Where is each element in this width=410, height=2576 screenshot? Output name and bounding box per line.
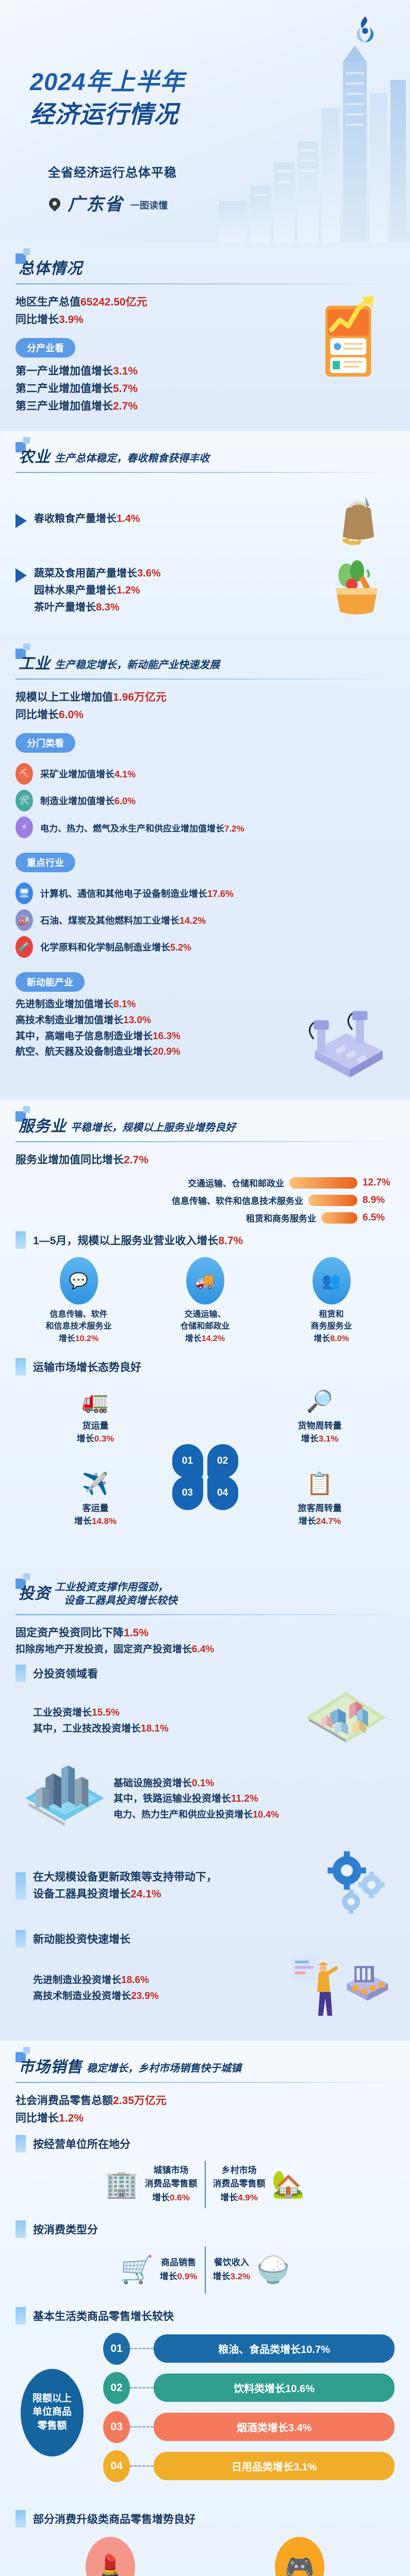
basic-goods-list: 限额以上 单位商品 零售额 01 粮油、食品类增长10.7% 02 饮料类增长1… <box>15 2333 395 2503</box>
key-industry-3-value: 5.2% <box>170 942 191 953</box>
industry-3-value: 2.7% <box>113 400 138 412</box>
basic-goods-row-1: 01 粮油、食品类增长10.7% <box>103 2333 395 2365</box>
pill-new-energy: 新动能产业 <box>15 972 85 992</box>
agri-item-3-value: 1.2% <box>117 585 140 596</box>
market-type-goods-name: 商品销售 <box>160 2256 198 2269</box>
bar-label-1: 交通运输、仓储和邮政业 <box>188 1176 284 1189</box>
worker-dashboard-icon <box>286 1952 395 2025</box>
transport-cell-3-growth-label: 增长 <box>74 1516 92 1526</box>
new-energy-invest-title: 新动能投资快速增长 <box>15 1930 395 1947</box>
industry-1-value: 3.1% <box>113 365 138 377</box>
investment-subtitle: 分投资领域看 <box>15 1665 395 1682</box>
bar-row-3: 租赁和商务服务业 6.5% <box>15 1211 395 1224</box>
transport-petal-numbers: 01 02 03 04 <box>172 1444 238 1510</box>
column-divider <box>205 2246 206 2294</box>
inv-field-a-1-label: 工业投资增长 <box>33 1707 92 1718</box>
inv-field-b-1-label: 基础设施投资增长 <box>113 1778 192 1789</box>
isometric-city-icon <box>297 1686 395 1756</box>
services-subtitle-2: 1—5月，规模以上服务业营业收入增长8.7% <box>15 1231 395 1249</box>
dashed-connector <box>130 2465 154 2467</box>
investment-desc-line-1: 工业投资支撑作用强劲， <box>55 1581 177 1594</box>
industry-category-2-value: 6.0% <box>114 796 136 806</box>
bar-label-3: 租赁和商务服务业 <box>246 1211 316 1224</box>
bar-value-1: 12.7% <box>363 1177 395 1189</box>
basic-goods-no-4: 04 <box>103 2450 130 2482</box>
services-value-line: 服务业增加值同比增长2.7% <box>15 1151 395 1169</box>
key-industry-1: 🖥 计算机、通信和其他电子设备制造业增长17.6% <box>15 883 395 904</box>
section-investment: 投资 工业投资支撑作用强劲， 设备工器具投资增长较快 固定资产投资同比下降1.5… <box>0 1567 410 2041</box>
new-energy-1-value: 8.1% <box>113 999 136 1010</box>
market-sub-1-text: 按经营单位所在地分 <box>33 2136 130 2151</box>
city-skyline-illustration <box>188 31 410 242</box>
section-investment-desc: 工业投资支撑作用强劲， 设备工器具投资增长较快 <box>55 1581 177 1609</box>
section-divider <box>15 283 395 284</box>
industry-2-label: 第二产业增加值增长 <box>15 383 113 395</box>
agri-item-4-label: 茶叶产量增长 <box>34 602 96 613</box>
upgrade-cell-2: 🎮 体育、娱乐用品类增长10.0% <box>212 2537 387 2576</box>
key-industry-1-value: 17.6% <box>207 889 234 899</box>
industry-category-1-label: 采矿业增加值增长 <box>40 769 114 779</box>
gdp-value: 65242.50亿元 <box>80 296 147 308</box>
retail-growth-label: 同比增长 <box>15 2112 59 2124</box>
isometric-skyscraper-icon <box>15 1761 113 1837</box>
market-location-urban-growth: 0.6% <box>170 2193 190 2202</box>
section-services-head: 服务业 平稳增长，规模以上服务业增势良好 <box>15 1113 395 1136</box>
market-sub-2-text: 按消费类型分 <box>33 2222 98 2237</box>
services-cell-1-growth: 增长10.2% <box>22 1333 136 1345</box>
fai-label: 固定资产投资同比下降 <box>15 1627 124 1639</box>
market-location-rural-name: 乡村市场 消费品零售额 <box>213 2164 266 2191</box>
market-type-catering-growth-label: 增长 <box>213 2272 231 2281</box>
new-energy-3: 其中，高端电子信息制造业增长16.3% <box>15 1029 291 1045</box>
inv-newenergy-1: 先进制造业投资增长18.6% <box>33 1973 286 1989</box>
basic-goods-label-1: 粮油、食品类增长10.7% <box>154 2334 395 2363</box>
upgrade-goods: 💄 化妆品类增长10.8% 🎮 体育、娱乐用品类增长10.0% <box>15 2537 395 2576</box>
fai-value: 1.5% <box>124 1627 149 1639</box>
retail-growth-value: 1.2% <box>59 2112 84 2124</box>
transport-cell-1: 🚛 货运量 增长0.3% <box>31 1385 160 1446</box>
agri-item-1: 春收粮食产量增长1.4% <box>34 511 140 528</box>
key-industry-3: 🧪 化学原料和化学制品制造业增长5.2% <box>15 936 395 958</box>
agri-item-3-label: 园林水果产量增长 <box>34 585 117 596</box>
title-line-1: 2024年上半年 <box>30 66 185 98</box>
market-type-goods-growth: 0.9% <box>177 2272 198 2281</box>
section-market-title: 市场销售 <box>19 2054 83 2077</box>
province-name: 广东省 <box>68 196 123 213</box>
market-type-catering-growth: 3.2% <box>231 2272 251 2281</box>
agri-row-2: 蔬菜及食用菌产量增长3.6% 园林水果产量增长1.2% 茶叶产量增长8.3% <box>15 565 317 616</box>
inv-field-b-2: 其中，铁路运输业投资增长11.2% <box>113 1791 395 1807</box>
industry-category-1-value: 4.1% <box>114 769 136 779</box>
section-services-title: 服务业 <box>19 1113 67 1136</box>
market-sub-3: 基本生活类商品零售增长较快 <box>15 2307 395 2325</box>
inv-newenergy-2-label: 高技术制造业投资增长 <box>33 1991 131 2002</box>
read-label: 一图读懂 <box>130 198 168 213</box>
market-sub-2: 按消费类型分 <box>15 2221 395 2238</box>
agri-item-2: 蔬菜及食用菌产量增长3.6% <box>34 565 161 582</box>
market-sub-4: 部分消费升级类商品零售增势良好 <box>15 2510 395 2528</box>
game-controller-icon: 🎮 <box>275 2537 324 2576</box>
retail-total-line: 社会消费品零售总额2.35万亿元 <box>15 2092 395 2110</box>
grain-sack-icon <box>330 482 387 549</box>
dashed-connector <box>130 2348 154 2349</box>
lightning-bolt-icon: ⚡ <box>15 817 33 838</box>
inv-newenergy-1-value: 18.6% <box>121 1975 149 1986</box>
key-industry-2-label: 石油、煤炭及其他燃料加工业增长 <box>40 916 179 926</box>
services-subtitle-2-label: 1—5月，规模以上服务业营业收入增长 <box>33 1235 218 1247</box>
transport-cell-4-name: 旅客周转量 <box>255 1502 384 1515</box>
transport-cell-4-growth-label: 增长 <box>299 1516 316 1526</box>
retail-total-label: 社会消费品零售总额 <box>15 2095 113 2107</box>
section-agriculture-desc: 生产总体稳定，春收粮食获得丰收 <box>55 452 209 467</box>
industry-1-label: 第一产业增加值增长 <box>15 365 113 377</box>
refinery-icon: 🏭 <box>15 909 33 931</box>
new-energy-1: 先进制造业增加值增长8.1% <box>15 997 291 1013</box>
section-industry-desc: 生产稳定增长，新动能产业快速发展 <box>55 658 220 673</box>
gdp-growth-value: 3.9% <box>59 314 84 326</box>
pill-by-industry: 分产业看 <box>15 338 75 358</box>
key-industry-1-label: 计算机、通信和其他电子设备制造业增长 <box>40 889 207 899</box>
inv-field-b-3-label: 电力、热力生产和供应业投资增长 <box>113 1809 253 1820</box>
hero-subtitle: 全省经济运行总体平稳 <box>48 162 177 180</box>
industry-category-2-label: 制造业增加值增长 <box>40 796 114 806</box>
column-divider <box>205 2161 206 2208</box>
section-market-head: 市场销售 稳定增长，乡村市场销售快于城镇 <box>15 2054 395 2077</box>
industry-2-value: 5.7% <box>113 383 138 395</box>
transport-cell-1-growth: 0.3% <box>94 1434 114 1444</box>
location-pin-icon <box>49 198 60 213</box>
market-location-rural: 乡村市场 消费品零售额 增长4.9% 🏡 <box>206 2164 313 2205</box>
hero-location: 广东省 一图读懂 <box>49 196 168 213</box>
office-tower-icon: 🏢 <box>105 2171 139 2198</box>
dashed-connector <box>130 2387 154 2388</box>
monitor-icon: 🖥 <box>15 883 33 904</box>
bar-row-1: 交通运输、仓储和邮政业 12.7% <box>15 1176 395 1189</box>
chip-marker-icon <box>15 1665 26 1682</box>
agri-item-1-value: 1.4% <box>117 513 140 524</box>
vegetable-basket-icon <box>324 555 388 619</box>
chat-bubble-icon: 💬 <box>60 1257 98 1304</box>
section-divider <box>15 1614 395 1615</box>
fai-ex-value: 6.4% <box>192 1644 214 1655</box>
transport-quadrant: 🚛 货运量 增长0.3% 🔎 货物周转量 增长3.1% ✈️ 客运量 增长14.… <box>15 1385 395 1550</box>
new-energy-3-label: 其中，高端电子信息制造业增长 <box>15 1031 153 1042</box>
market-by-type: 🛒 商品销售 增长0.9% 餐饮收入 增长3.2% 🍚 <box>15 2246 395 2294</box>
agri-row-1: 春收粮食产量增长1.4% <box>15 511 322 528</box>
bar-row-2: 信息传输、软件和信息技术服务业 8.9% <box>15 1194 395 1207</box>
industry-value-line: 规模以上工业增加值1.96万亿元 <box>15 689 395 706</box>
section-overall: 总体情况 地区生产总值65242.50亿元 同比增长3.9% 分产业看 第一产业… <box>0 242 410 431</box>
section-services-desc: 平稳增长，规模以上服务业增势良好 <box>71 1121 236 1136</box>
section-investment-title: 投资 <box>19 1581 51 1603</box>
fai-line: 固定资产投资同比下降1.5% <box>15 1624 395 1642</box>
section-market-desc: 稳定增长，乡村市场销售快于城镇 <box>87 2062 241 2077</box>
investment-subtitle-text: 分投资领域看 <box>33 1666 98 1681</box>
transport-cell-2-growth-label: 增长 <box>301 1434 319 1444</box>
basic-goods-no-3: 03 <box>103 2411 130 2443</box>
section-industry: 工业 生产稳定增长，新动能产业快速发展 规模以上工业增加值1.96万亿元 同比增… <box>0 637 410 1100</box>
excavator-icon: ⛏ <box>15 763 33 785</box>
section-services: 服务业 平稳增长，规模以上服务业增势良好 服务业增加值同比增长2.7% 交通运输… <box>0 1100 410 1567</box>
market-type-catering-name: 餐饮收入 <box>213 2256 251 2269</box>
hero-header: 2024年上半年 经济运行情况 全省经济运行总体平稳 广东省 一图读懂 <box>0 0 410 242</box>
market-type-goods: 🛒 商品销售 增长0.9% <box>113 2256 205 2283</box>
industry-category-3: ⚡ 电力、热力、燃气及水生产和供应业增加值增长7.2% <box>15 817 395 838</box>
cargo-turnover-icon: 🔎 <box>255 1385 384 1417</box>
new-energy-2: 高技术制造业增加值增长13.0% <box>15 1013 291 1029</box>
industry-category-3-value: 7.2% <box>224 824 244 834</box>
industry-1: 第一产业增加值增长3.1% <box>15 363 307 380</box>
section-industry-title: 工业 <box>19 651 51 673</box>
gdp-growth-line: 同比增长3.9% <box>15 311 307 329</box>
petal-02: 02 <box>207 1444 238 1478</box>
statistics-bureau-logo-icon <box>350 14 380 44</box>
market-location-urban: 🏢 城镇市场 消费品零售额 增长0.6% <box>98 2164 205 2205</box>
services-three-cells: 💬 信息传输、软件 和信息技术服务业 增长10.2% 🚚 交通运输、 仓储和邮政… <box>15 1257 395 1345</box>
bar-label-2: 信息传输、软件和信息技术服务业 <box>172 1194 303 1207</box>
infographic-page: 2024年上半年 经济运行情况 全省经济运行总体平稳 广东省 一图读懂 总体情况… <box>0 0 410 2576</box>
bar-track-1 <box>289 1177 357 1189</box>
industry-3-label: 第三产业增加值增长 <box>15 400 113 412</box>
bar-value-3: 6.5% <box>363 1212 395 1224</box>
gdp-growth-label: 同比增长 <box>15 314 59 326</box>
rural-house-icon: 🏡 <box>272 2171 305 2198</box>
page-title: 2024年上半年 经济运行情况 <box>30 66 185 131</box>
market-location-urban-name: 城镇市场 消费品零售额 <box>145 2164 198 2191</box>
delivery-truck-icon: 🚚 <box>186 1257 224 1304</box>
new-energy-4: 航空、航天器及设备制造业增长20.9% <box>15 1044 291 1060</box>
beaker-icon: 🧪 <box>15 936 33 958</box>
equipment-title-line-1: 在大规模设备更新政策等支持带动下， <box>33 1869 217 1886</box>
section-overall-head: 总体情况 <box>15 256 395 278</box>
gdp-label: 地区生产总值 <box>15 296 80 308</box>
basic-goods-row-3: 03 烟酒类增长3.4% <box>103 2411 395 2443</box>
services-cell-1-name: 信息传输、软件 和信息技术服务业 <box>22 1309 136 1332</box>
clipboard-icon: 📋 <box>255 1467 384 1500</box>
transport-cell-2-name: 货物周转量 <box>255 1419 384 1433</box>
agri-item-3: 园林水果产量增长1.2% <box>34 582 161 599</box>
key-industry-3-label: 化学原料和化学制品制造业增长 <box>40 942 170 953</box>
arrow-marker-icon <box>15 514 27 528</box>
basic-goods-label-4: 日用品类增长3.1% <box>154 2452 395 2480</box>
robotic-assembly-line-icon <box>294 997 392 1084</box>
market-location-rural-growth-label: 增长 <box>220 2193 238 2202</box>
new-energy-4-label: 航空、航天器及设备制造业增长 <box>15 1046 153 1057</box>
inv-newenergy-1-label: 先进制造业投资增长 <box>33 1975 121 1986</box>
services-cell-3-growth: 增长8.0% <box>274 1333 388 1345</box>
people-group-icon: 👥 <box>313 1257 351 1304</box>
agri-item-1-label: 春收粮食产量增长 <box>34 513 117 524</box>
shopping-cart-icon: 🛒 <box>120 2257 154 2283</box>
inv-field-b-3-value: 10.4% <box>253 1809 279 1820</box>
basic-goods-blob: 限额以上 单位商品 零售额 <box>21 2369 84 2456</box>
inv-field-a-1-value: 15.5% <box>92 1707 120 1718</box>
equipment-title: 在大规模设备更新政策等支持带动下， 设备工器具投资增长24.1% <box>15 1869 317 1903</box>
chip-marker-icon <box>15 2307 26 2325</box>
basic-goods-no-2: 02 <box>103 2372 130 2404</box>
gear-icon <box>317 1850 395 1919</box>
services-cell-3: 👥 租赁和 商务服务业 增长8.0% <box>274 1257 388 1345</box>
inv-field-b-1: 基础设施投资增长0.1% <box>113 1776 395 1792</box>
market-type-catering: 餐饮收入 增长3.2% 🍚 <box>206 2256 298 2283</box>
industry-value-label: 规模以上工业增加值 <box>15 691 113 703</box>
industry-growth-value: 6.0% <box>59 709 84 721</box>
agri-item-2-value: 3.6% <box>137 568 161 579</box>
fai-ex-line: 扣除房地产开发投资，固定资产投资增长6.4% <box>15 1642 395 1658</box>
agri-item-4-value: 8.3% <box>96 602 120 613</box>
inv-field-b-3: 电力、热力生产和供应业投资增长10.4% <box>113 1807 395 1822</box>
new-energy-2-label: 高技术制造业增加值增长 <box>15 1015 123 1026</box>
new-energy-4-value: 20.9% <box>153 1046 181 1057</box>
inv-field-a-2: 其中，工业技改投资增长18.1% <box>33 1721 297 1737</box>
inv-field-a-2-label: 其中，工业技改投资增长 <box>33 1723 141 1734</box>
section-divider <box>15 472 395 473</box>
services-cell-2: 🚚 交通运输、 仓储和邮政业 增长14.2% <box>148 1257 262 1345</box>
gdp-line: 地区生产总值65242.50亿元 <box>15 294 307 311</box>
upgrade-cell-1: 💄 化妆品类增长10.8% <box>23 2537 198 2576</box>
new-energy-1-label: 先进制造业增加值增长 <box>15 999 113 1010</box>
new-energy-3-value: 16.3% <box>153 1031 181 1042</box>
new-energy-invest-title-text: 新动能投资快速增长 <box>33 1931 130 1946</box>
new-energy-2-value: 13.0% <box>123 1015 151 1026</box>
basic-goods-row-4: 04 日用品类增长3.1% <box>103 2450 395 2482</box>
market-location-urban-growth-label: 增长 <box>152 2193 170 2202</box>
services-cell-1: 💬 信息传输、软件 和信息技术服务业 增长10.2% <box>22 1257 136 1345</box>
section-agriculture-title: 农业 <box>19 444 51 467</box>
market-sub-1: 按经营单位所在地分 <box>15 2135 395 2153</box>
section-overall-title: 总体情况 <box>19 256 83 278</box>
transport-cell-4-growth: 24.7% <box>316 1516 341 1526</box>
arrow-marker-icon <box>15 568 27 583</box>
chip-marker-icon <box>15 2221 26 2238</box>
market-sub-4-text: 部分消费升级类商品零售增势良好 <box>33 2511 195 2527</box>
pill-by-category: 分门类看 <box>15 733 75 753</box>
rice-bowl-icon: 🍚 <box>256 2257 290 2283</box>
services-value: 2.7% <box>124 1154 149 1166</box>
chip-marker-icon <box>15 1930 26 1947</box>
inv-newenergy-2: 高技术制造业投资增长23.9% <box>33 1989 286 2005</box>
chip-marker-icon <box>15 1231 26 1249</box>
bar-track-2 <box>308 1195 357 1206</box>
plane-train-icon: ✈️ <box>31 1467 160 1500</box>
services-cell-2-growth: 增长14.2% <box>148 1333 262 1345</box>
section-divider <box>15 2082 395 2083</box>
basic-goods-row-2: 02 饮料类增长10.6% <box>103 2372 395 2404</box>
bar-track-3 <box>321 1212 357 1224</box>
transport-cell-4: 📋 旅客周转量 增长24.7% <box>255 1467 384 1528</box>
industry-2: 第二产业增加值增长5.7% <box>15 380 307 398</box>
bar-value-2: 8.9% <box>363 1195 395 1206</box>
market-sub-3-text: 基本生活类商品零售增长较快 <box>33 2308 174 2324</box>
inv-field-a-2-value: 18.1% <box>141 1723 169 1734</box>
dashed-connector <box>130 2426 154 2428</box>
inv-field-a-1: 工业投资增长15.5% <box>33 1705 297 1721</box>
industry-category-1: ⛏ 采矿业增加值增长4.1% <box>15 763 395 785</box>
transport-cell-3-growth: 14.8% <box>92 1516 117 1526</box>
key-industry-2-value: 14.2% <box>179 916 206 926</box>
transport-title: 运输市场增长态势良好 <box>15 1358 395 1376</box>
services-subtitle-2-value: 8.7% <box>218 1235 243 1247</box>
inv-newenergy-2-value: 23.9% <box>131 1991 159 2002</box>
equipment-title-line-2-label: 设备工器具投资增长 <box>33 1888 130 1900</box>
transport-cell-3-name: 客运量 <box>31 1502 160 1515</box>
chip-marker-icon <box>15 1358 26 1376</box>
section-agriculture: 农业 生产总体稳定，春收粮食获得丰收 春收粮食产量增长1.4% <box>0 431 410 637</box>
transport-cell-3: ✈️ 客运量 增长14.8% <box>31 1467 160 1528</box>
market-by-location: 🏢 城镇市场 消费品零售额 增长0.6% 乡村市场 消费品零售额 增长4.9% … <box>15 2161 395 2208</box>
growth-chart-folder-icon <box>315 294 387 384</box>
services-bar-chart: 交通运输、仓储和邮政业 12.7% 信息传输、软件和信息技术服务业 8.9% 租… <box>15 1176 395 1224</box>
inv-field-b-2-label: 其中，铁路运输业投资增长 <box>113 1793 231 1804</box>
cosmetics-icon: 💄 <box>86 2537 135 2576</box>
pill-key-industries: 重点行业 <box>15 853 75 872</box>
investment-desc-line-2: 设备工器具投资增长较快 <box>55 1594 177 1607</box>
transport-cell-2-growth: 3.1% <box>319 1434 339 1444</box>
equipment-title-line-2-value: 24.1% <box>130 1888 161 1900</box>
retail-growth-line: 同比增长1.2% <box>15 2110 395 2127</box>
cargo-truck-icon: 🚛 <box>31 1385 160 1417</box>
transport-cell-1-growth-label: 增长 <box>77 1434 94 1444</box>
petal-01: 01 <box>172 1444 203 1478</box>
chip-marker-icon <box>15 1872 26 1900</box>
industry-category-3-label: 电力、热力、燃气及水生产和供应业增加值增长 <box>40 824 224 834</box>
section-divider <box>15 1141 395 1142</box>
basic-goods-label-3: 烟酒类增长3.4% <box>154 2413 395 2441</box>
transport-cell-1-name: 货运量 <box>31 1419 160 1433</box>
industry-category-2: 🛠 制造业增加值增长6.0% <box>15 790 395 811</box>
transport-title-text: 运输市场增长态势良好 <box>33 1359 141 1375</box>
section-divider <box>15 679 395 680</box>
market-type-goods-growth-label: 增长 <box>160 2272 177 2281</box>
petal-04: 04 <box>207 1476 238 1510</box>
retail-total-value: 2.35万亿元 <box>113 2095 167 2107</box>
industry-growth-line: 同比增长6.0% <box>15 706 395 724</box>
services-cell-2-name: 交通运输、 仓储和邮政业 <box>148 1309 262 1332</box>
industry-3: 第三产业增加值增长2.7% <box>15 398 307 415</box>
inv-field-b-1-value: 0.1% <box>192 1778 214 1789</box>
chip-marker-icon <box>15 2135 26 2153</box>
fai-ex-label: 扣除房地产开发投资，固定资产投资增长 <box>15 1644 192 1655</box>
basic-goods-label-2: 饮料类增长10.6% <box>154 2374 395 2402</box>
chip-marker-icon <box>15 2510 26 2528</box>
market-location-rural-growth: 4.9% <box>238 2193 258 2202</box>
section-investment-head: 投资 工业投资支撑作用强劲， 设备工器具投资增长较快 <box>15 1581 395 1609</box>
title-line-2: 经济运行情况 <box>30 98 185 131</box>
industry-growth-label: 同比增长 <box>15 709 59 721</box>
agri-item-4: 茶叶产量增长8.3% <box>34 599 161 616</box>
services-value-label: 服务业增加值同比增长 <box>15 1154 124 1166</box>
industry-value: 1.96万亿元 <box>113 691 167 703</box>
section-market: 市场销售 稳定增长，乡村市场销售快于城镇 社会消费品零售总额2.35万亿元 同比… <box>0 2041 410 2576</box>
inv-field-b-2-value: 11.2% <box>231 1793 258 1804</box>
section-industry-head: 工业 生产稳定增长，新动能产业快速发展 <box>15 651 395 673</box>
services-cell-3-name: 租赁和 商务服务业 <box>274 1309 388 1332</box>
petal-03: 03 <box>172 1476 203 1510</box>
section-agriculture-head: 农业 生产总体稳定，春收粮食获得丰收 <box>15 444 395 467</box>
agri-item-2-label: 蔬菜及食用菌产量增长 <box>34 568 137 579</box>
basic-goods-no-1: 01 <box>103 2333 130 2365</box>
key-industry-2: 🏭 石油、煤炭及其他燃料加工业增长14.2% <box>15 909 395 931</box>
transport-cell-2: 🔎 货物周转量 增长3.1% <box>255 1385 384 1446</box>
tools-icon: 🛠 <box>15 790 33 811</box>
